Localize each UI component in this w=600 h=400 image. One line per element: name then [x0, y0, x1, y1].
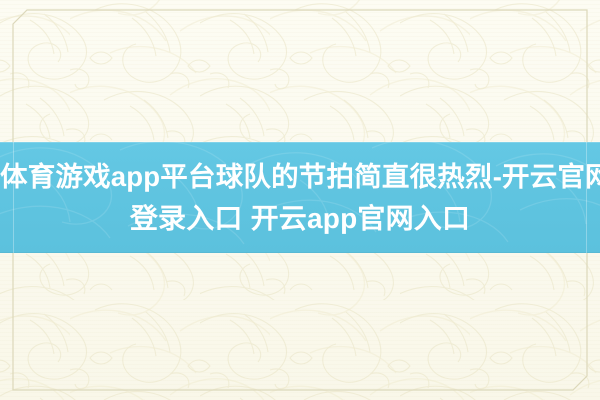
- banner-image: 体育游戏app平台球队的节拍简直很热烈-开云官网 登录入口 开云app官网入口: [0, 0, 600, 400]
- banner-headline-line-2: 登录入口 开云app官网入口: [0, 198, 600, 240]
- banner-headline-line-1: 体育游戏app平台球队的节拍简直很热烈-开云官网: [0, 156, 600, 198]
- banner-bottom-edge: [0, 252, 600, 253]
- title-banner: 体育游戏app平台球队的节拍简直很热烈-开云官网 登录入口 开云app官网入口: [0, 142, 600, 253]
- banner-top-edge: [0, 142, 600, 143]
